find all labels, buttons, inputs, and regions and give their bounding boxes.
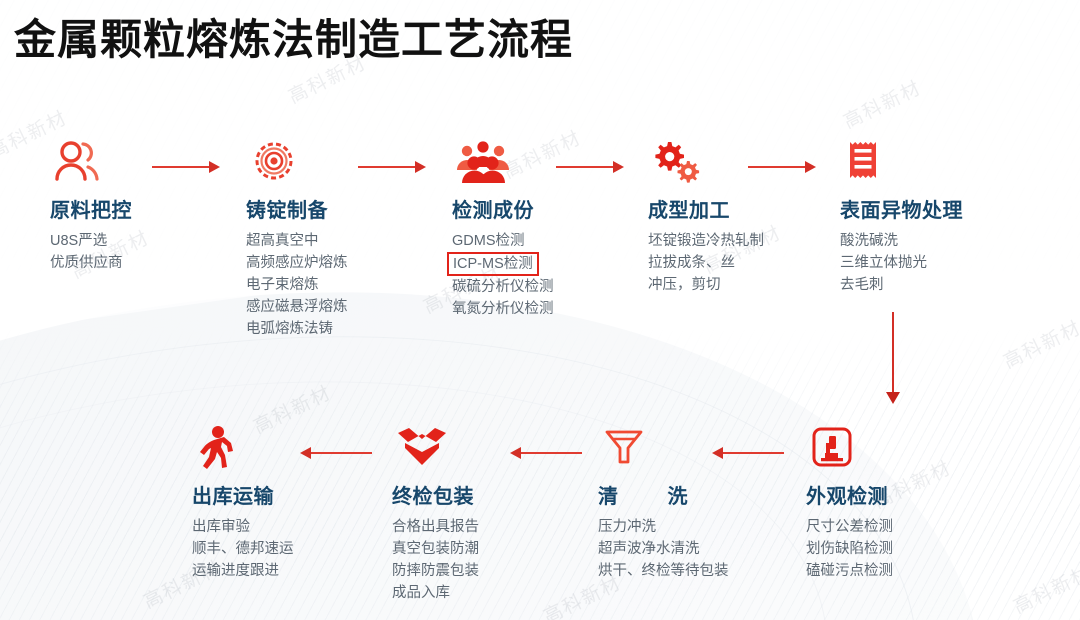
step-line: 去毛刺 bbox=[840, 274, 1045, 296]
step-line: 压力冲洗 bbox=[598, 516, 803, 538]
microscope-box-icon bbox=[808, 420, 1011, 476]
step-line: 防摔防震包装 bbox=[392, 560, 597, 582]
step-line: 酸洗碱洗 bbox=[840, 230, 1045, 252]
watermark: 高科新材 bbox=[1008, 558, 1080, 619]
step-title: 终检包装 bbox=[392, 480, 597, 509]
step-line: 烘干、终检等待包装 bbox=[598, 560, 748, 582]
step-title: 成型加工 bbox=[648, 194, 853, 223]
flow-step-composition-testing[interactable]: 检测成份 GDMS检测 ICP-MS检测 碳硫分析仪检测 氧氮分析仪检测 bbox=[452, 134, 657, 320]
page-title: 金属颗粒熔炼法制造工艺流程 bbox=[14, 6, 573, 67]
step-line: GDMS检测 bbox=[452, 230, 657, 252]
step-line: 冲压，剪切 bbox=[648, 274, 853, 296]
step-line: 成品入库 bbox=[392, 582, 597, 604]
step-line: 高频感应炉熔炼 bbox=[246, 252, 451, 274]
step-line: 划伤缺陷检测 bbox=[806, 538, 1011, 560]
step-line-list: 合格出具报告 真空包装防潮 防摔防震包装 成品入库 bbox=[392, 516, 597, 604]
step-title: 清 洗 bbox=[598, 480, 803, 509]
step-line: 磕碰污点检测 bbox=[806, 560, 1011, 582]
funnel-icon bbox=[600, 420, 803, 476]
step-line: 碳硫分析仪检测 bbox=[452, 276, 657, 298]
document-list-icon bbox=[842, 134, 1045, 190]
step-line: 超高真空中 bbox=[246, 230, 451, 252]
step-line: 电子束熔炼 bbox=[246, 274, 451, 296]
step-line: 坯锭锻造冷热轧制 bbox=[648, 230, 853, 252]
step-line: 拉拔成条、丝 bbox=[648, 252, 853, 274]
step-line-list: 坯锭锻造冷热轧制 拉拔成条、丝 冲压，剪切 bbox=[648, 230, 853, 296]
users-outline-icon bbox=[52, 134, 255, 190]
open-box-icon bbox=[394, 420, 597, 476]
step-line: 氧氮分析仪检测 bbox=[452, 298, 657, 320]
step-line: 超声波净水清洗 bbox=[598, 538, 803, 560]
flow-step-raw-material-control[interactable]: 原料把控 U8S严选 优质供应商 bbox=[50, 134, 255, 274]
step-title: 表面异物处理 bbox=[840, 194, 1045, 223]
flow-step-ingot-preparation[interactable]: 铸锭制备 超高真空中 高频感应炉熔炼 电子束熔炼 感应磁悬浮熔炼 电弧熔炼法铸 bbox=[246, 134, 451, 340]
step-line: 顺丰、德邦速运 bbox=[192, 538, 397, 560]
arrow-step5-to-step6 bbox=[886, 312, 900, 404]
flow-step-outbound-shipping[interactable]: 出库运输 出库审验 顺丰、德邦速运 运输进度跟进 bbox=[192, 420, 397, 582]
flow-step-final-inspection-packaging[interactable]: 终检包装 合格出具报告 真空包装防潮 防摔防震包装 成品入库 bbox=[392, 420, 597, 604]
flow-step-appearance-inspection[interactable]: 外观检测 尺寸公差检测 划伤缺陷检测 磕碰污点检测 bbox=[806, 420, 1011, 582]
step-line: 运输进度跟进 bbox=[192, 560, 397, 582]
watermark: 高科新材 bbox=[998, 313, 1080, 374]
step-title: 出库运输 bbox=[192, 480, 397, 509]
step-line: 真空包装防潮 bbox=[392, 538, 597, 560]
step-line-list: 压力冲洗 超声波净水清洗 烘干、终检等待包装 bbox=[598, 516, 803, 582]
step-line-highlighted[interactable]: ICP-MS检测 bbox=[447, 252, 539, 276]
people-group-icon bbox=[454, 134, 657, 190]
step-line: 感应磁悬浮熔炼 bbox=[246, 296, 451, 318]
step-line-list: 尺寸公差检测 划伤缺陷检测 磕碰污点检测 bbox=[806, 516, 1011, 582]
flow-step-forming-processing[interactable]: 成型加工 坯锭锻造冷热轧制 拉拔成条、丝 冲压，剪切 bbox=[648, 134, 853, 296]
step-line: 三维立体抛光 bbox=[840, 252, 1045, 274]
step-line-list: GDMS检测 ICP-MS检测 碳硫分析仪检测 氧氮分析仪检测 bbox=[452, 230, 657, 320]
step-title: 铸锭制备 bbox=[246, 194, 451, 223]
flow-step-surface-treatment[interactable]: 表面异物处理 酸洗碱洗 三维立体抛光 去毛刺 bbox=[840, 134, 1045, 296]
watermark: 高科新材 bbox=[838, 73, 925, 134]
step-title: 原料把控 bbox=[50, 194, 255, 223]
step-line-list: U8S严选 优质供应商 bbox=[50, 230, 255, 274]
step-title: 检测成份 bbox=[452, 194, 657, 223]
gears-icon bbox=[650, 134, 853, 190]
step-line: 出库审验 bbox=[192, 516, 397, 538]
step-line: U8S严选 bbox=[50, 230, 255, 252]
step-title: 外观检测 bbox=[806, 480, 1011, 509]
walking-person-icon bbox=[194, 420, 397, 476]
flow-step-cleaning[interactable]: 清 洗 压力冲洗 超声波净水清洗 烘干、终检等待包装 bbox=[598, 420, 803, 582]
step-line-list: 超高真空中 高频感应炉熔炼 电子束熔炼 感应磁悬浮熔炼 电弧熔炼法铸 bbox=[246, 230, 451, 340]
step-line: 优质供应商 bbox=[50, 252, 255, 274]
step-line: 合格出具报告 bbox=[392, 516, 597, 538]
step-line: 尺寸公差检测 bbox=[806, 516, 1011, 538]
step-line-list: 出库审验 顺丰、德邦速运 运输进度跟进 bbox=[192, 516, 397, 582]
gear-target-icon bbox=[248, 134, 451, 190]
step-line-list: 酸洗碱洗 三维立体抛光 去毛刺 bbox=[840, 230, 1045, 296]
step-line: 电弧熔炼法铸 bbox=[246, 318, 451, 340]
